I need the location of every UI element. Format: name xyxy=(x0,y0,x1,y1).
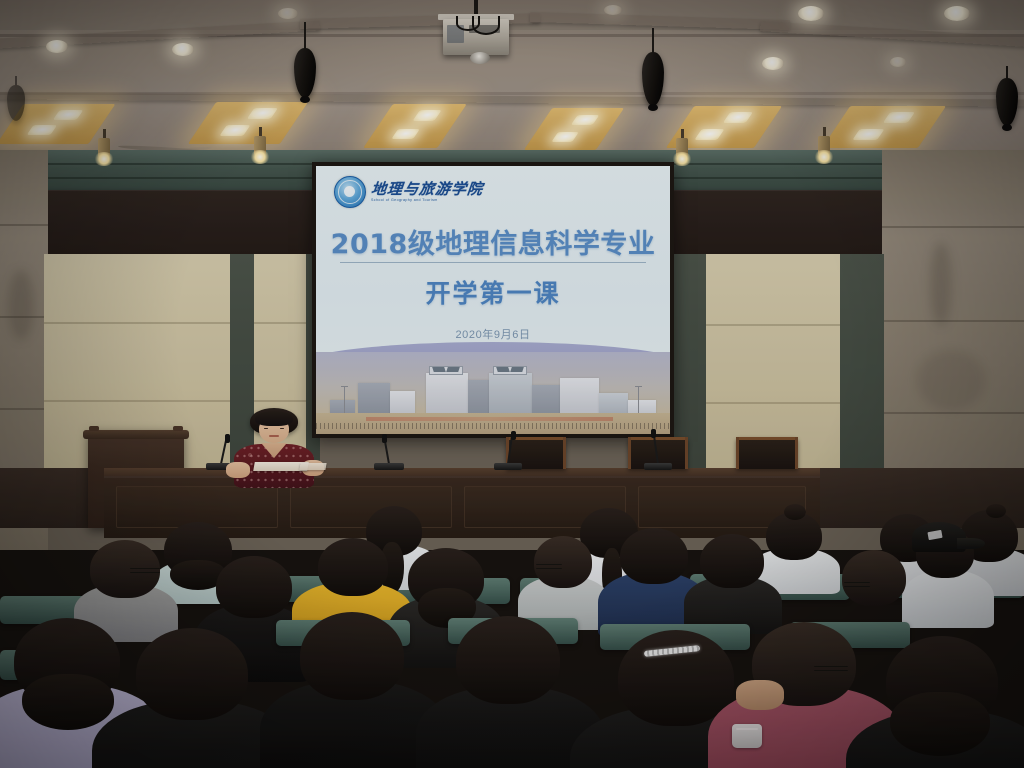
slide-divider xyxy=(340,262,646,263)
speaker-fringe xyxy=(255,411,293,427)
student-head xyxy=(620,528,688,584)
glasses-icon xyxy=(844,582,870,587)
list-item xyxy=(408,548,484,610)
warm-light-panel xyxy=(363,104,467,148)
list-item xyxy=(916,528,974,578)
school-name-en: School of Geography and Tourism xyxy=(371,198,483,202)
hanging-spotlight xyxy=(640,28,666,108)
student-head xyxy=(300,612,404,700)
microphone[interactable] xyxy=(374,436,404,470)
projector-cable xyxy=(472,16,500,35)
hanging-spotlight xyxy=(5,76,27,124)
student-head xyxy=(842,550,906,606)
recessed-downlight xyxy=(944,6,970,21)
speaker-arm xyxy=(226,462,250,478)
microphone[interactable] xyxy=(494,434,522,470)
list-item xyxy=(618,630,734,726)
student-hair xyxy=(22,674,114,730)
glasses-icon xyxy=(536,564,562,569)
slide-subtitle: 开学第一课 xyxy=(316,274,670,310)
lecture-hall-photo: 地理与旅游学院 School of Geography and Tourism … xyxy=(0,0,1024,768)
list-item xyxy=(842,550,906,606)
hanging-spotlight xyxy=(994,66,1020,128)
slide-campus-photo xyxy=(316,352,670,434)
speaker-papers xyxy=(299,463,326,470)
recessed-downlight xyxy=(604,5,622,15)
ceiling xyxy=(0,0,1024,172)
glasses-icon xyxy=(814,666,848,671)
rooftop-sign xyxy=(429,366,463,375)
student-head xyxy=(136,628,248,720)
hanging-spotlight xyxy=(292,22,318,100)
warm-light-panel xyxy=(188,102,308,144)
recessed-downlight xyxy=(798,6,824,21)
list-item xyxy=(90,540,160,598)
water-bottle-cap xyxy=(732,724,762,748)
school-logo: 地理与旅游学院 School of Geography and Tourism xyxy=(334,176,483,208)
panel-chair[interactable] xyxy=(736,437,798,469)
list-item xyxy=(886,636,998,728)
list-item xyxy=(216,556,292,618)
glasses-icon xyxy=(130,568,160,573)
student-head xyxy=(534,536,592,588)
student-head xyxy=(216,556,292,618)
rooftop-sign xyxy=(493,366,527,375)
list-item xyxy=(700,534,764,588)
microphone[interactable] xyxy=(644,432,672,470)
baseball-cap xyxy=(912,522,966,552)
warm-light-panel xyxy=(822,106,946,148)
student-head xyxy=(700,534,764,588)
recessed-downlight xyxy=(762,57,784,70)
list-item xyxy=(300,612,404,700)
recessed-downlight xyxy=(172,43,194,56)
wall-olive-strip xyxy=(840,254,884,480)
slide-title: 2018级地理信息科学专业 xyxy=(316,222,670,261)
list-item xyxy=(620,528,688,584)
list-item xyxy=(456,616,560,704)
recessed-downlight xyxy=(46,40,68,53)
student-hair xyxy=(890,692,990,756)
slide-date: 2020年9月6日 xyxy=(316,326,670,342)
campus-banner xyxy=(366,417,614,421)
recessed-downlight xyxy=(278,8,298,19)
list-item xyxy=(318,538,388,596)
presentation-slide: 地理与旅游学院 School of Geography and Tourism … xyxy=(316,166,670,434)
student-audience xyxy=(0,500,1024,768)
campus-fence xyxy=(316,423,670,429)
projection-screen[interactable]: 地理与旅游学院 School of Geography and Tourism … xyxy=(312,162,674,438)
student-head xyxy=(318,538,388,596)
list-item xyxy=(534,536,592,588)
list-item xyxy=(14,618,120,704)
warm-light-panel xyxy=(524,108,624,150)
student-hair-bun xyxy=(784,504,806,520)
school-seal-icon xyxy=(334,176,366,208)
list-item xyxy=(766,512,822,560)
recessed-downlight xyxy=(890,57,906,67)
student-head xyxy=(456,616,560,704)
ceiling-projector xyxy=(438,0,514,66)
school-name-cn: 地理与旅游学院 xyxy=(370,183,484,198)
student-arm xyxy=(736,680,784,710)
student-head xyxy=(618,630,734,726)
student-hair-bun xyxy=(986,504,1006,518)
list-item xyxy=(136,628,248,720)
